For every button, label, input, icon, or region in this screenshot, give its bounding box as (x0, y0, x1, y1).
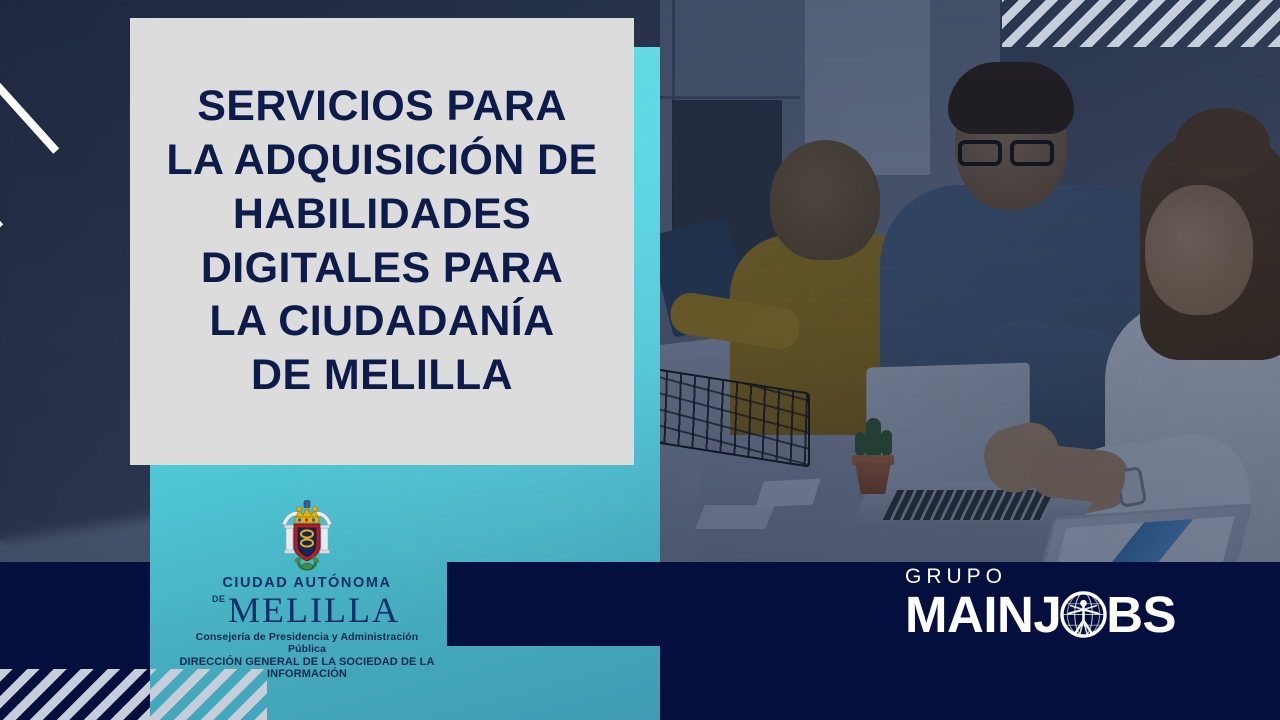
title-line: SERVICIOS PARA (197, 82, 567, 130)
melilla-directorate: DIRECCIÓN GENERAL DE LA SOCIEDAD DE LA I… (178, 656, 436, 680)
title-line: DE MELILLA (251, 351, 513, 399)
melilla-line1: CIUDAD AUTÓNOMA (178, 576, 436, 591)
vitruvian-man-globe-icon (1060, 591, 1107, 638)
mainjobs-grupo-label: GRUPO (905, 566, 1195, 587)
title-line: DIGITALES PARA (201, 244, 563, 292)
title-line: LA ADQUISICIÓN DE (166, 136, 597, 184)
title-card: SERVICIOS PARA LA ADQUISICIÓN DE HABILID… (130, 18, 634, 465)
melilla-de-label: DE (212, 594, 226, 604)
diagonal-hatch-bottom-left-icon (0, 669, 150, 720)
title-line: LA CIUDADANÍA (209, 297, 554, 345)
diagonal-hatch-top-right-icon (1002, 0, 1280, 47)
melilla-wordmark: DE MELILLA (214, 592, 400, 628)
mainjobs-logo: GRUPO MAINJ (905, 566, 1195, 640)
mainjobs-wordmark-part1: MAINJ (905, 589, 1061, 640)
melilla-department: Consejería de Presidencia y Administraci… (178, 631, 436, 655)
melilla-logo: CIUDAD AUTÓNOMA DE MELILLA Consejería de… (178, 500, 436, 680)
page-title: SERVICIOS PARA LA ADQUISICIÓN DE HABILID… (166, 80, 597, 403)
slide-canvas: SERVICIOS PARA LA ADQUISICIÓN DE HABILID… (0, 0, 1280, 720)
title-line: HABILIDADES (233, 190, 531, 238)
melilla-name: MELILLA (214, 590, 400, 630)
melilla-coat-of-arms-icon (278, 500, 336, 572)
mainjobs-wordmark-part2: BS (1106, 589, 1176, 640)
